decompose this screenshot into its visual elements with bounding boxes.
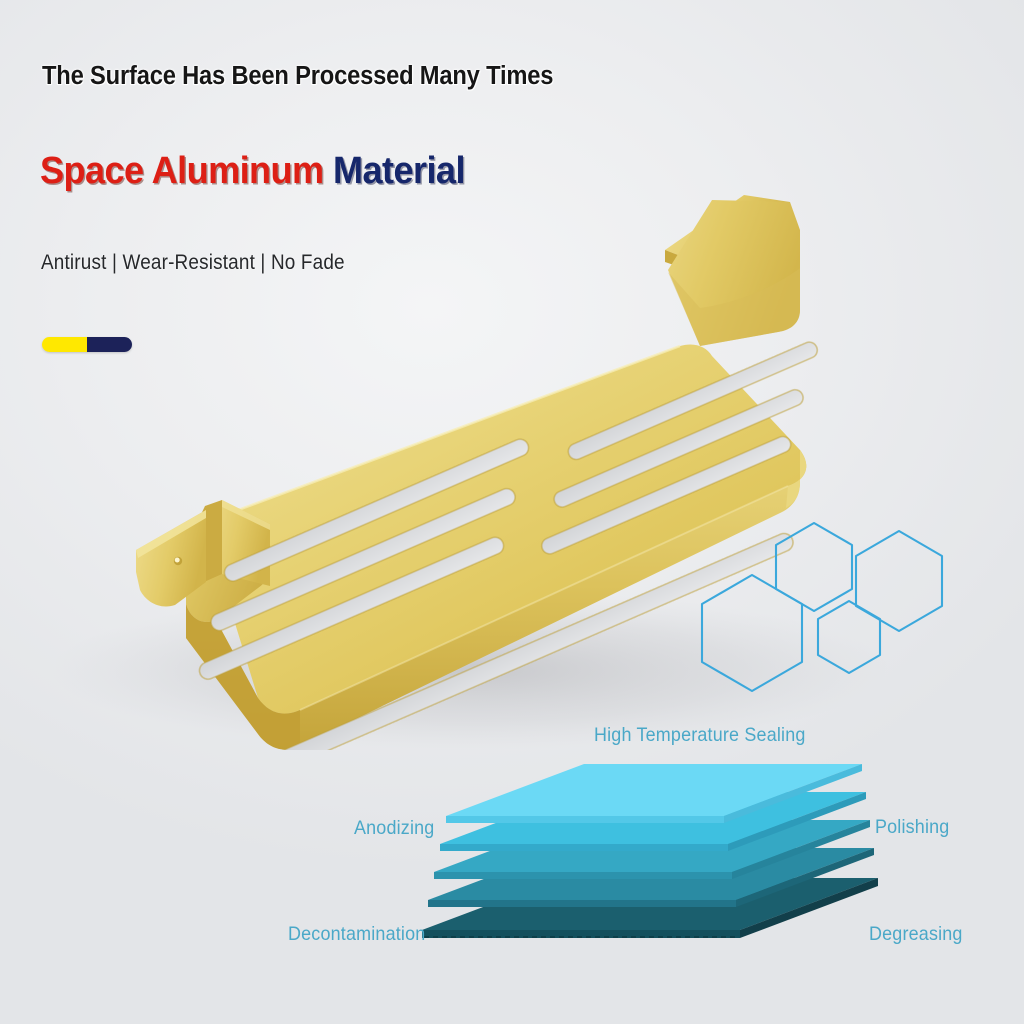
layer-label-high-temperature-sealing: High Temperature Sealing <box>594 724 806 747</box>
layer-label-anodizing: Anodizing <box>354 817 434 840</box>
hex-large-left <box>702 575 802 691</box>
layer-label-polishing: Polishing <box>875 816 949 839</box>
shelf-back-wall <box>668 200 800 346</box>
hex-top-middle <box>776 523 852 611</box>
layer-label-decontamination: Decontamination <box>288 923 425 946</box>
page-headline: The Surface Has Been Processed Many Time… <box>42 62 553 91</box>
hex-small-bottom <box>818 601 880 673</box>
process-layer-stack <box>410 760 890 960</box>
hex-right <box>856 531 942 631</box>
hexagon-decoration-group <box>690 505 960 705</box>
layer-label-degreasing: Degreasing <box>869 923 963 946</box>
